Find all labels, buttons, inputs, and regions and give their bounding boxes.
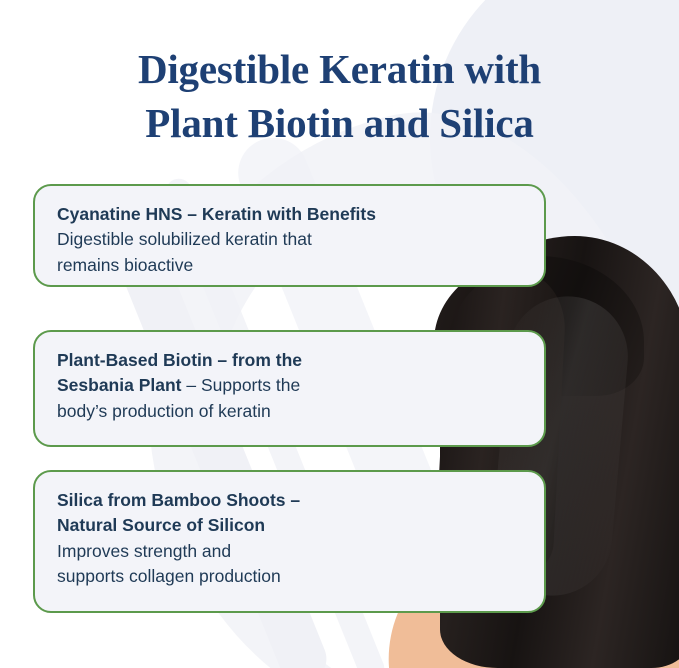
feature-card-silica-from-bamboo: Silica from Bamboo Shoots – Natural Sour… (33, 470, 546, 613)
card-line: supports collagen production (57, 564, 526, 589)
card-line-regular: – Supports the (182, 375, 301, 395)
card-line-regular: body’s production of keratin (57, 401, 271, 421)
feature-card-cyanatine-hns: Cyanatine HNS – Keratin with Benefits Di… (33, 184, 546, 287)
card-line-bold: Natural Source of Silicon (57, 515, 265, 535)
card-line-bold: Silica from Bamboo Shoots – (57, 490, 300, 510)
card-line: remains bioactive (57, 253, 526, 278)
card-line: body’s production of keratin (57, 399, 526, 424)
card-line: Plant-Based Biotin – from the (57, 348, 526, 373)
card-line: Digestible solubilized keratin that (57, 227, 526, 252)
card-line: Natural Source of Silicon (57, 513, 526, 538)
card-line-bold: Cyanatine HNS – Keratin with Benefits (57, 204, 376, 224)
feature-card-plant-based-biotin: Plant-Based Biotin – from the Sesbania P… (33, 330, 546, 447)
card-line: Silica from Bamboo Shoots – (57, 488, 526, 513)
page-title: Digestible Keratin with Plant Biotin and… (0, 42, 679, 150)
infographic-page: Digestible Keratin with Plant Biotin and… (0, 0, 679, 668)
card-line: Cyanatine HNS – Keratin with Benefits (57, 202, 526, 227)
card-line-regular: Digestible solubilized keratin that (57, 229, 312, 249)
card-line-regular: supports collagen production (57, 566, 281, 586)
card-line: Improves strength and (57, 539, 526, 564)
card-line-bold: Plant-Based Biotin – from the (57, 350, 302, 370)
card-line: Sesbania Plant – Supports the (57, 373, 526, 398)
card-line-regular: remains bioactive (57, 255, 193, 275)
card-line-bold: Sesbania Plant (57, 375, 182, 395)
card-line-regular: Improves strength and (57, 541, 231, 561)
